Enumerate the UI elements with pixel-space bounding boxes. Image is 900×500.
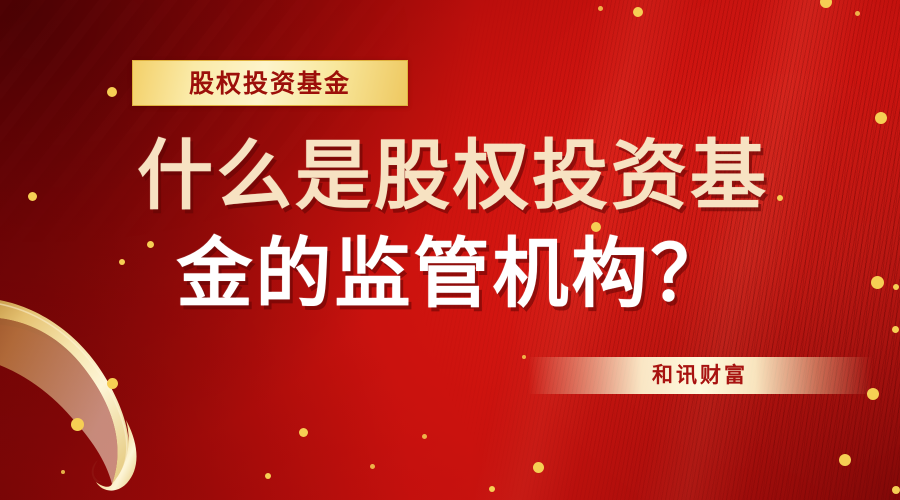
page-title: 什么是股权投资基 金的监管机构？ [0, 138, 900, 312]
gold-dot [370, 464, 375, 469]
source-label: 和讯财富 [652, 365, 748, 386]
gold-dot [820, 0, 832, 8]
gold-dot [839, 454, 851, 466]
gold-dot [875, 112, 887, 124]
gold-dot [489, 486, 495, 492]
gold-dot [522, 355, 526, 359]
gold-dot [598, 6, 603, 11]
gold-dot [265, 473, 271, 479]
gold-dot [422, 434, 427, 439]
gold-dot [299, 428, 308, 437]
gold-dot [633, 7, 643, 17]
headline-line-2: 金的监管机构？ [0, 236, 900, 312]
category-tag-badge: 股权投资基金 [132, 60, 408, 106]
gold-dot [892, 326, 899, 333]
gold-dot [855, 11, 860, 16]
gold-dot [533, 462, 544, 473]
category-tag-label: 股权投资基金 [189, 71, 351, 96]
gold-dot [107, 87, 117, 97]
gold-dot [892, 486, 900, 494]
poster-canvas: 股权投资基金 什么是股权投资基 金的监管机构？ 和讯财富 [0, 0, 900, 500]
source-attribution-bar: 和讯财富 [528, 357, 872, 394]
headline-line-1: 什么是股权投资基 [0, 138, 900, 214]
